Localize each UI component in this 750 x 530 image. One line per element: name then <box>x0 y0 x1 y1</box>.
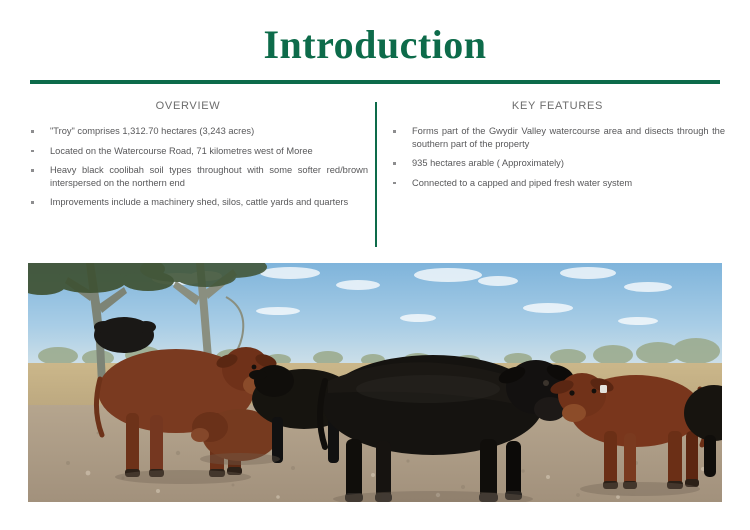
list-item: "Troy" comprises 1,312.70 hectares (3,24… <box>28 125 368 138</box>
column-overview: OVERVIEW "Troy" comprises 1,312.70 hecta… <box>28 100 368 209</box>
bullet-dot-icon <box>31 169 34 172</box>
list-item-text: Forms part of the Gwydir Valley watercou… <box>412 126 725 149</box>
list-item: Located on the Watercourse Road, 71 kilo… <box>28 145 368 158</box>
bullet-dot-icon <box>393 182 396 185</box>
title-underline-rule <box>30 80 720 84</box>
key-features-bullet-list: Forms part of the Gwydir Valley watercou… <box>390 125 725 189</box>
list-item: Heavy black coolibah soil types througho… <box>28 164 368 189</box>
list-item: Forms part of the Gwydir Valley watercou… <box>390 125 725 150</box>
bullet-dot-icon <box>393 162 396 165</box>
slide-introduction: Introduction OVERVIEW "Troy" comprises 1… <box>0 0 750 530</box>
list-item-text: Located on the Watercourse Road, 71 kilo… <box>50 146 313 156</box>
bullet-dot-icon <box>31 130 34 133</box>
column-divider <box>375 102 377 247</box>
overview-bullet-list: "Troy" comprises 1,312.70 hectares (3,24… <box>28 125 368 209</box>
list-item: 935 hectares arable ( Approximately) <box>390 157 725 170</box>
list-item: Improvements include a machinery shed, s… <box>28 196 368 209</box>
list-item-text: "Troy" comprises 1,312.70 hectares (3,24… <box>50 126 254 136</box>
list-item-text: Heavy black coolibah soil types througho… <box>50 165 368 188</box>
bullet-dot-icon <box>31 150 34 153</box>
bullet-dot-icon <box>31 201 34 204</box>
list-item: Connected to a capped and piped fresh wa… <box>390 177 725 190</box>
cattle-paddock-photo <box>28 263 722 502</box>
bullet-dot-icon <box>393 130 396 133</box>
page-title: Introduction <box>0 22 750 68</box>
list-item-text: Improvements include a machinery shed, s… <box>50 197 348 207</box>
title-block: Introduction <box>0 22 750 68</box>
content-columns: OVERVIEW "Troy" comprises 1,312.70 hecta… <box>0 100 750 250</box>
photo-illustration <box>28 263 722 502</box>
column-key-features: KEY FEATURES Forms part of the Gwydir Va… <box>390 100 725 189</box>
list-item-text: 935 hectares arable ( Approximately) <box>412 158 564 168</box>
key-features-heading: KEY FEATURES <box>390 100 725 112</box>
list-item-text: Connected to a capped and piped fresh wa… <box>412 178 632 188</box>
overview-heading: OVERVIEW <box>28 100 368 112</box>
